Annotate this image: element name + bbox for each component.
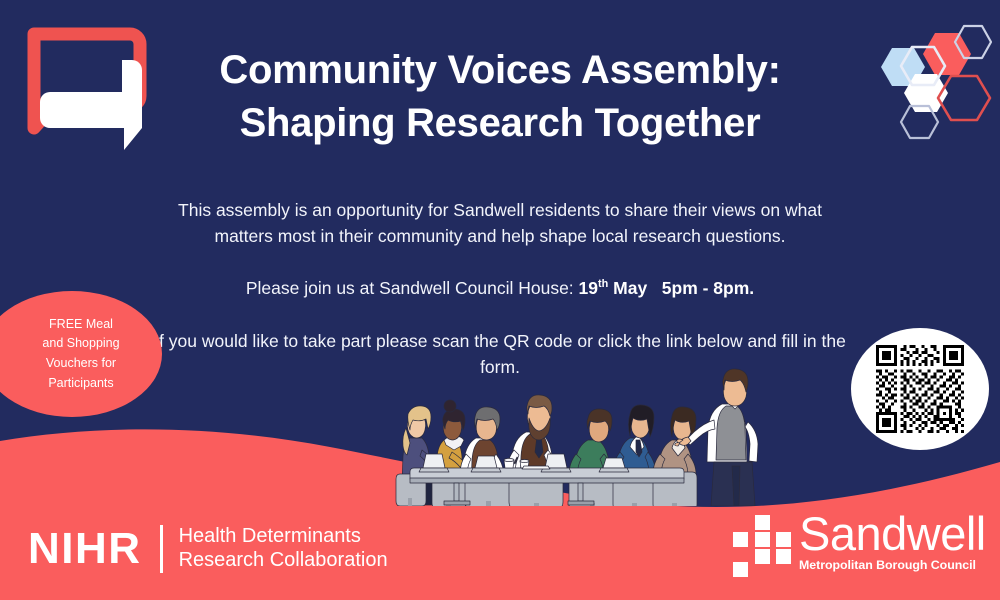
headline-line-2: Shaping Research Together: [170, 97, 830, 150]
event-month: May: [608, 278, 647, 298]
event-day: 19: [579, 278, 598, 298]
nihr-wordmark: NIHR: [28, 527, 142, 571]
badge-line-3: Vouchers for: [42, 354, 119, 374]
free-meal-badge: FREE Meal and Shopping Vouchers for Part…: [0, 291, 162, 417]
qr-code-image[interactable]: [876, 345, 964, 433]
nihr-subtitle-line-2: Research Collaboration: [179, 549, 388, 573]
headline-line-1: Community Voices Assembly:: [219, 48, 780, 92]
nihr-subtitle-line-1: Health Determinants: [179, 525, 388, 549]
nihr-subtitle: Health Determinants Research Collaborati…: [179, 525, 388, 572]
nihr-divider: [160, 525, 163, 573]
poster-canvas: Community Voices Assembly: Shaping Resea…: [0, 0, 1000, 600]
speech-bubbles-icon: [26, 26, 156, 156]
event-day-suffix: th: [598, 278, 608, 290]
nihr-logo: NIHR Health Determinants Research Collab…: [28, 519, 388, 579]
badge-line-1: FREE Meal: [42, 315, 119, 335]
sandwell-mark-icon: [733, 515, 791, 577]
sandwell-tagline: Metropolitan Borough Council: [799, 558, 986, 572]
page-title: Community Voices Assembly: Shaping Resea…: [170, 44, 830, 150]
event-time: 5pm - 8pm.: [662, 278, 754, 298]
sandwell-text: Sandwell Metropolitan Borough Council: [799, 512, 986, 572]
badge-line-2: and Shopping: [42, 334, 119, 354]
sandwell-logo: Sandwell Metropolitan Borough Council: [733, 512, 986, 584]
badge-line-4: Participants: [42, 374, 119, 394]
meeting-illustration: [392, 366, 774, 506]
intro-paragraph: This assembly is an opportunity for Sand…: [150, 198, 850, 250]
event-details: Please join us at Sandwell Council House…: [150, 276, 850, 302]
hexagon-cluster-icon: [852, 14, 992, 142]
body-copy: This assembly is an opportunity for Sand…: [150, 198, 850, 380]
event-location-label: Please join us at Sandwell Council House…: [246, 278, 579, 298]
qr-code[interactable]: [851, 328, 989, 450]
sandwell-name: Sandwell: [799, 512, 986, 556]
